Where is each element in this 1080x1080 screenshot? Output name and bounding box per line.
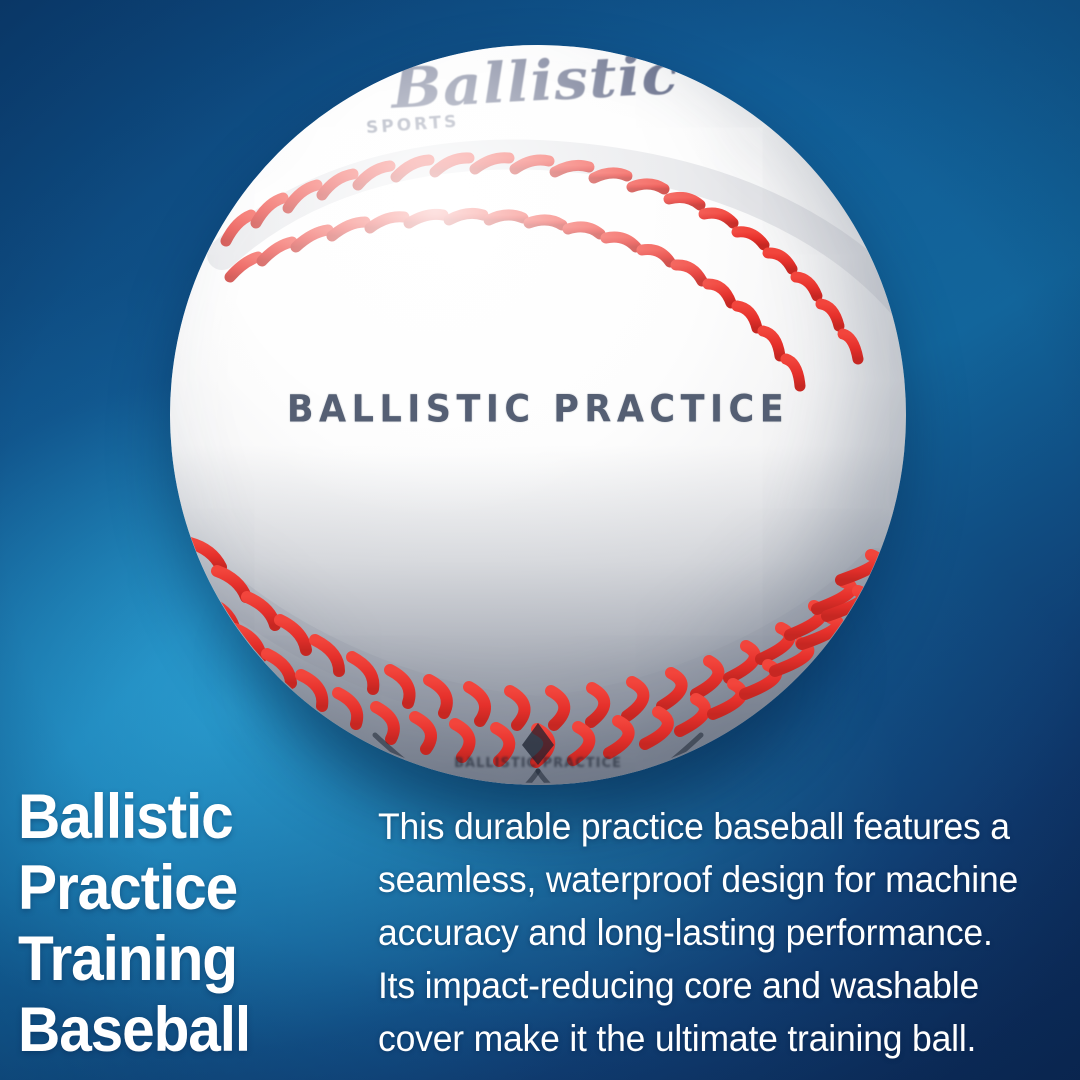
product-title: Ballistic Practice Training Baseball xyxy=(18,782,334,1066)
product-title-line: Training xyxy=(18,924,334,995)
baseball-sphere: Ballistic SPORTS xyxy=(170,45,906,785)
product-title-line: Ballistic xyxy=(18,782,334,853)
product-title-line: Practice xyxy=(18,853,334,924)
baseball-product-photo: Ballistic SPORTS xyxy=(170,45,906,785)
product-image-canvas: Ballistic SPORTS xyxy=(0,0,1080,1080)
product-title-line: Baseball xyxy=(18,995,334,1066)
ball-bottom-stamp-text: BALLISTIC PRACTICE xyxy=(170,757,906,770)
product-description: This durable practice baseball features … xyxy=(378,800,1031,1065)
ball-stamp-text: BALLISTIC PRACTICE xyxy=(170,389,906,431)
